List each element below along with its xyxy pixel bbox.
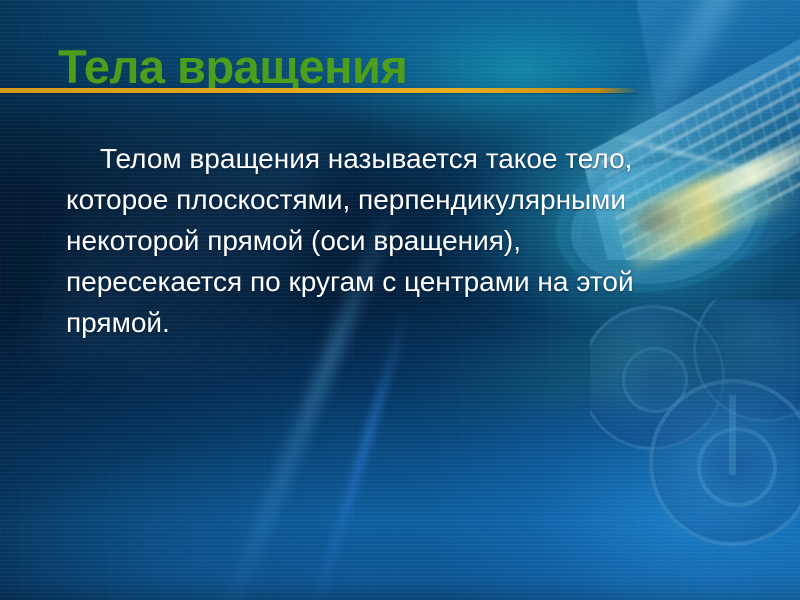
gear-hub: [697, 427, 777, 507]
light-streak: [307, 306, 412, 600]
gear-spoke: [729, 395, 736, 475]
title-underline-rule: [0, 88, 638, 93]
presentation-slide: Тела вращения Телом вращения называется …: [0, 0, 800, 600]
slide-body-text: Телом вращения называется такое тело, ко…: [66, 138, 686, 343]
slide-title: Тела вращения: [58, 42, 407, 91]
gears-image: [590, 300, 800, 600]
